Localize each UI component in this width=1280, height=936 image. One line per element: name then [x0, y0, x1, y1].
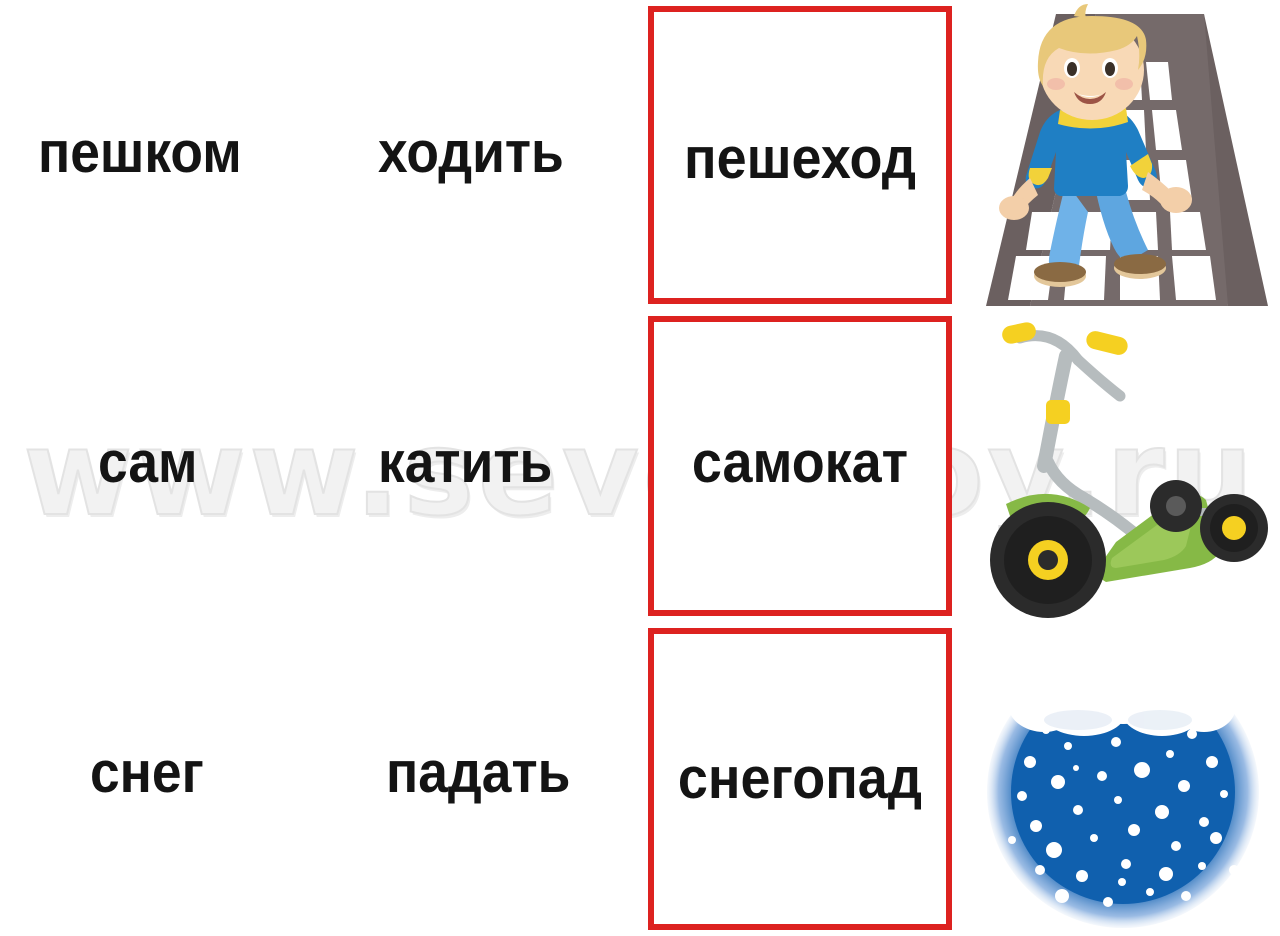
- row-2-root-word: сам: [98, 434, 197, 492]
- row-1-answer-box[interactable]: пешеход: [648, 6, 952, 304]
- row-3-compound-word: снегопад: [664, 750, 936, 808]
- row-2-verb-word: катить: [378, 434, 552, 492]
- row-3-answer-box[interactable]: снегопад: [648, 628, 952, 930]
- worksheet-page: www.sever-toy.ru пешком ходить пешеход: [0, 0, 1280, 936]
- snowfall-cloud-illustration: [966, 634, 1280, 934]
- kick-scooter-illustration: [962, 312, 1280, 620]
- row-3-root-word: снег: [90, 744, 204, 802]
- row-1-verb-word: ходить: [378, 124, 564, 182]
- row-3-verb-word: падать: [386, 744, 570, 802]
- row-1-compound-word: пешеход: [664, 130, 936, 188]
- boy-on-crosswalk-illustration: [968, 0, 1280, 306]
- row-2-compound-word: самокат: [664, 434, 936, 492]
- row-2-answer-box[interactable]: самокат: [648, 316, 952, 616]
- row-1-root-word: пешком: [38, 124, 242, 182]
